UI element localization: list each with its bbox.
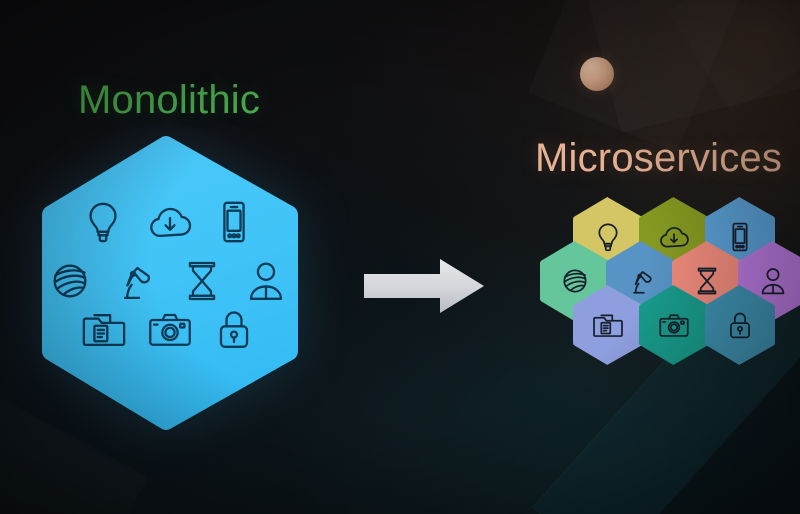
vignette-overlay: [0, 0, 800, 514]
slide-canvas: Monolithic Microservices: [0, 0, 800, 514]
